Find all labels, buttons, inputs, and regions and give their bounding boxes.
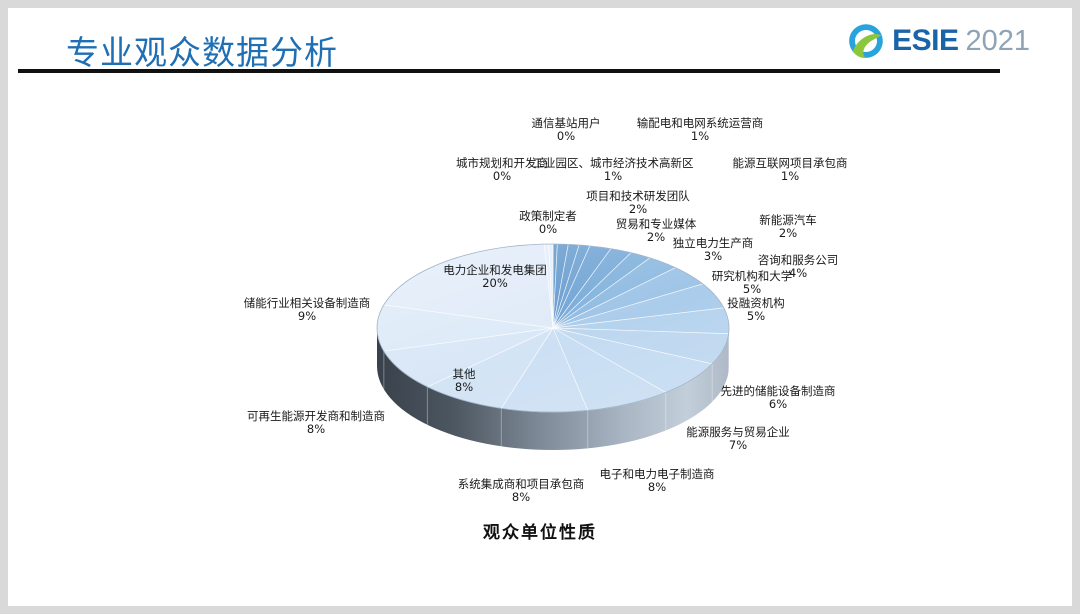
pie-slice-label: 电子和电力电子制造商8%	[600, 468, 715, 494]
logo-brand-text: ESIE	[892, 26, 958, 56]
pie-slice-label: 系统集成商和项目承包商8%	[458, 478, 585, 504]
pie-slice-label: 其他8%	[453, 368, 476, 394]
pie-slice-label-percent: 5%	[712, 283, 793, 296]
pie-slice-label-percent: 7%	[686, 439, 790, 452]
pie-slice-label: 电力企业和发电集团20%	[443, 264, 547, 290]
pie-slice-label: 工业园区、城市经济技术高新区1%	[533, 157, 694, 183]
pie-slice-label-percent: 1%	[533, 170, 694, 183]
pie-slice-label-percent: 0%	[532, 130, 601, 143]
pie-slice-label-percent: 8%	[247, 423, 385, 436]
pie-slice-label: 新能源汽车2%	[759, 214, 817, 240]
pie-chart: 通信基站用户0%输配电和电网系统运营商1%城市规划和开发商0%工业园区、城市经济…	[8, 78, 1072, 606]
page-title: 专业观众数据分析	[66, 26, 338, 74]
pie-slice-label-percent: 6%	[721, 398, 836, 411]
pie-slice-label: 通信基站用户0%	[532, 117, 601, 143]
pie-slice-label: 能源服务与贸易企业7%	[686, 426, 790, 452]
pie-slice-label: 输配电和电网系统运营商1%	[637, 117, 764, 143]
pie-slice-label-percent: 20%	[443, 277, 547, 290]
chart-title: 观众单位性质	[8, 518, 1072, 543]
esie-logo: ESIE 2021	[847, 20, 1030, 62]
slide-canvas: 专业观众数据分析 ESIE 2021	[8, 8, 1072, 606]
pie-slice-label: 储能行业相关设备制造商9%	[244, 297, 371, 323]
pie-slice-label-percent: 0%	[519, 223, 577, 236]
pie-slice-label-percent: 8%	[458, 491, 585, 504]
pie-slice-label: 政策制定者0%	[519, 210, 577, 236]
pie-slice-label: 能源互联网项目承包商1%	[733, 157, 848, 183]
logo-year-text: 2021	[965, 27, 1030, 56]
pie-slice-label-percent: 8%	[453, 381, 476, 394]
pie-slice-label-percent: 5%	[727, 310, 785, 323]
pie-slice-label-percent: 1%	[637, 130, 764, 143]
pie-slice-label-percent: 9%	[244, 310, 371, 323]
pie-slice-label: 投融资机构5%	[727, 297, 785, 323]
pie-slice-label-percent: 2%	[586, 203, 690, 216]
pie-slice-label-percent: 3%	[673, 250, 754, 263]
pie-slice-label: 独立电力生产商3%	[673, 237, 754, 263]
pie-slice-label-percent: 8%	[600, 481, 715, 494]
pie-slice-label-percent: 2%	[759, 227, 817, 240]
pie-slice-label: 研究机构和大学5%	[712, 270, 793, 296]
pie-slice-label: 项目和技术研发团队2%	[586, 190, 690, 216]
pie-slice-label: 可再生能源开发商和制造商8%	[247, 410, 385, 436]
pie-slice-label: 先进的储能设备制造商6%	[721, 385, 836, 411]
esie-swoosh-icon	[847, 22, 885, 60]
title-divider	[18, 69, 1000, 73]
pie-slice-label-percent: 1%	[733, 170, 848, 183]
